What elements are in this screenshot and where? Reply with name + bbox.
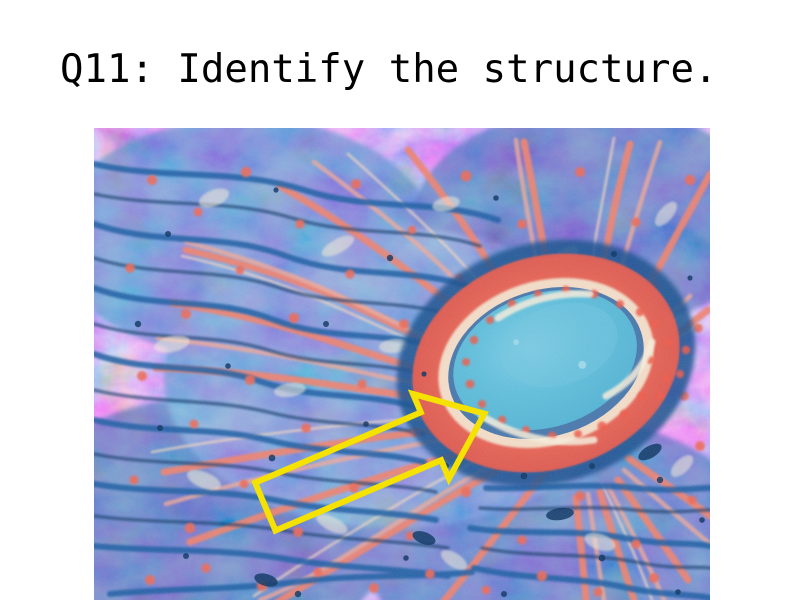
page-title: Q11: Identify the structure. [60, 45, 760, 95]
histology-micrograph[interactable] [94, 128, 710, 600]
slide-canvas: Q11: Identify the structure. [0, 0, 800, 600]
micrograph-image [94, 128, 710, 600]
